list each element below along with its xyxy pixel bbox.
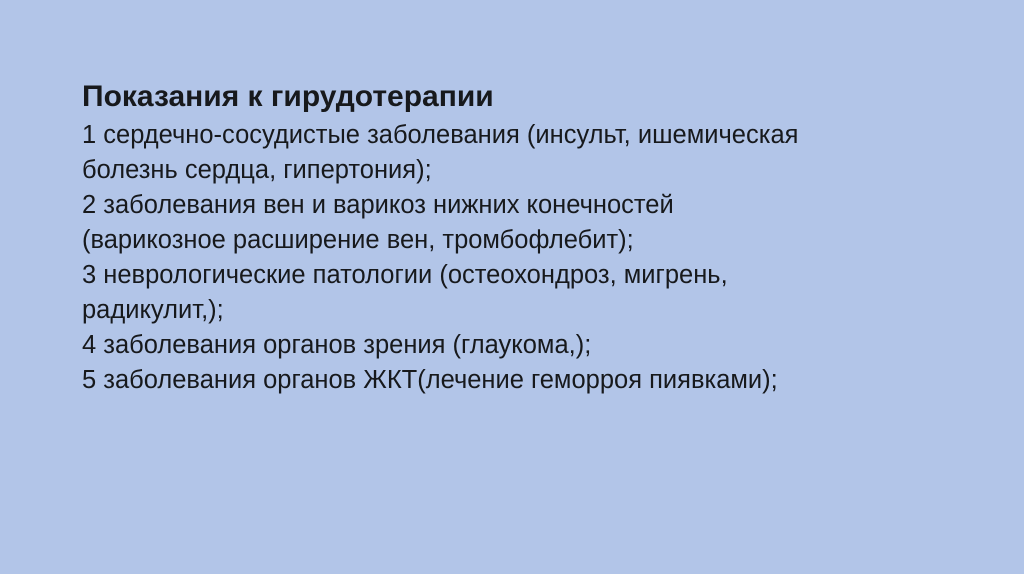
list-item: 3 неврологические патологии (остеохондро… <box>82 258 962 293</box>
list-item: болезнь сердца, гипертония); <box>82 153 962 188</box>
page-title: Показания к гирудотерапии <box>82 78 962 116</box>
list-item: 1 сердечно-сосудистые заболевания (инсул… <box>82 118 962 153</box>
list-item: 4 заболевания органов зрения (глаукома,)… <box>82 328 962 363</box>
presentation-slide: Показания к гирудотерапии 1 сердечно-сос… <box>0 0 1024 574</box>
slide-content-block: Показания к гирудотерапии 1 сердечно-сос… <box>82 78 962 398</box>
list-item: радикулит,); <box>82 293 962 328</box>
indications-list: 1 сердечно-сосудистые заболевания (инсул… <box>82 118 962 398</box>
list-item: (варикозное расширение вен, тромбофлебит… <box>82 223 962 258</box>
list-item: 2 заболевания вен и варикоз нижних конеч… <box>82 188 962 223</box>
list-item: 5 заболевания органов ЖКТ(лечение геморр… <box>82 363 962 398</box>
